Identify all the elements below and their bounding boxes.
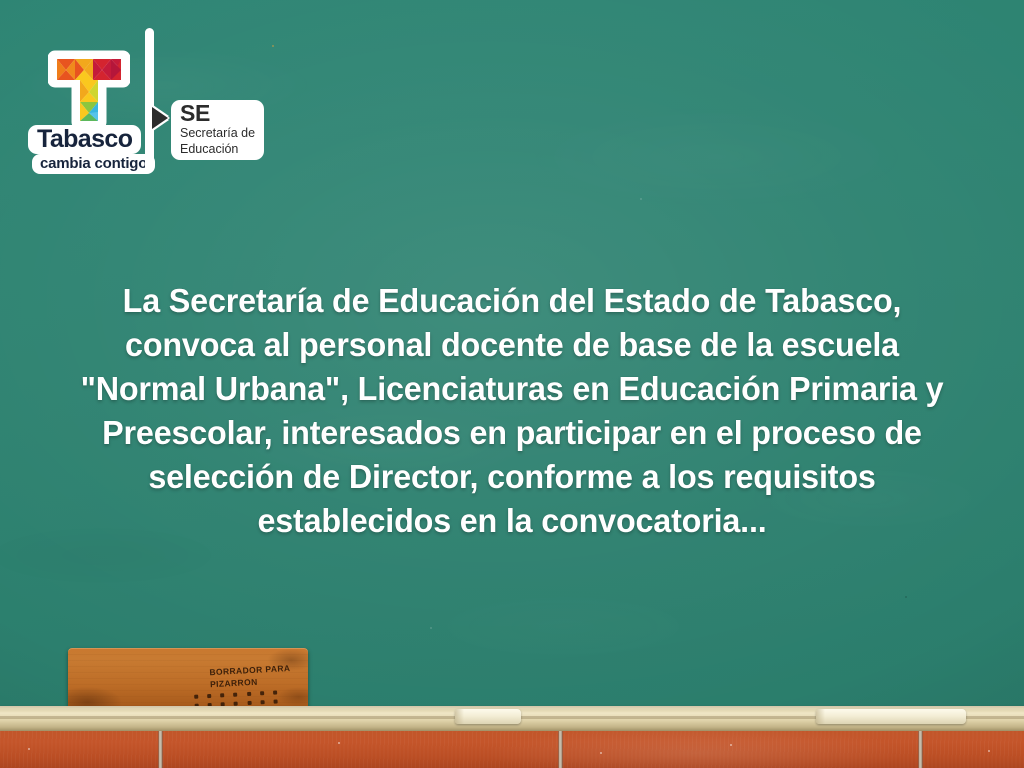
- brick-mortar-joint: [158, 731, 163, 768]
- se-initials: SE: [180, 102, 255, 125]
- logo-divider: [145, 28, 154, 172]
- brick-speck: [730, 744, 732, 746]
- brick-speck: [28, 748, 30, 750]
- headline-line: "Normal Urbana", Licenciaturas en Educac…: [45, 368, 979, 412]
- board-speck: [640, 198, 642, 200]
- announcement-text: La Secretaría de Educación del Estado de…: [45, 280, 979, 544]
- tabasco-t-mark-icon: [48, 50, 130, 130]
- headline-line: convoca al personal docente de base de l…: [45, 324, 979, 368]
- board-speck: [905, 596, 907, 598]
- se-line-2: Educación: [180, 142, 255, 157]
- se-line-1: Secretaría de: [180, 126, 255, 141]
- tabasco-wordmark: Tabasco: [28, 125, 141, 154]
- board-speck: [430, 627, 432, 629]
- tabasco-tagline: cambia contigo: [32, 154, 155, 174]
- poster-canvas: Tabasco cambia contigo SE Secretaría de …: [0, 0, 1024, 768]
- secretaria-educacion-badge: SE Secretaría de Educación: [171, 100, 264, 160]
- brick-mortar-joint: [558, 731, 563, 768]
- brick-speck: [988, 750, 990, 752]
- chalk-stick: [816, 709, 966, 724]
- headline-line: La Secretaría de Educación del Estado de…: [45, 280, 979, 324]
- headline-line: establecidos en la convocatoria...: [45, 500, 979, 544]
- play-triangle-icon: [152, 107, 168, 129]
- institutional-logo: Tabasco cambia contigo SE Secretaría de …: [26, 22, 286, 177]
- brick-wall: [0, 731, 1024, 768]
- brick-mortar-joint: [918, 731, 923, 768]
- brick-speck: [600, 752, 602, 754]
- headline-line: selección de Director, conforme a los re…: [45, 456, 979, 500]
- eraser-label: BORRADOR PARA PIZARRON: [209, 662, 291, 690]
- chalkboard-eraser: BORRADOR PARA PIZARRON: [68, 648, 308, 714]
- headline-line: Preescolar, interesados en participar en…: [45, 412, 979, 456]
- brick-speck: [338, 742, 340, 744]
- chalk-stick: [455, 709, 521, 724]
